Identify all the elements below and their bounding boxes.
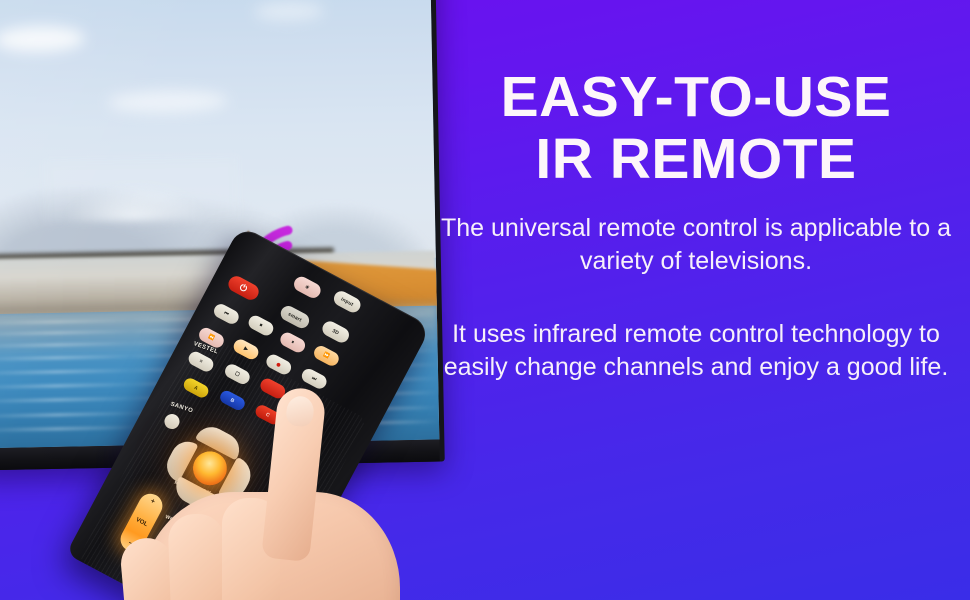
paragraph-two: It uses infrared remote control technolo… bbox=[430, 318, 962, 384]
headline-line-1: EASY-TO-USE bbox=[501, 65, 892, 129]
hand bbox=[118, 430, 448, 600]
page-title: EASY-TO-USE IR REMOTE bbox=[430, 66, 962, 190]
headline-line-2: IR REMOTE bbox=[430, 128, 962, 190]
snow-cap bbox=[43, 157, 239, 223]
paragraph-one: The universal remote control is applicab… bbox=[430, 212, 962, 278]
copy-block: EASY-TO-USE IR REMOTE The universal remo… bbox=[430, 66, 962, 384]
promo-banner: ☀ input ⏻ smart 3D ⏮ ⏹ ⏸ ⏩ ⏪ ▶ ● ⏭ ≡ ▢ A… bbox=[0, 0, 970, 600]
fingernail bbox=[285, 395, 315, 428]
ring-finger bbox=[168, 513, 229, 600]
